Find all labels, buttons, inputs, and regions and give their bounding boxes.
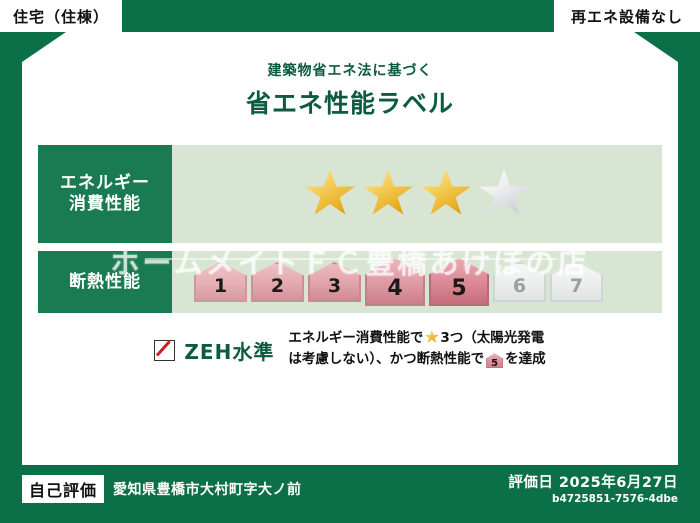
label-footer: 自己評価 愛知県豊橋市大村町字大ノ前 評価日 2025年6月27日 b47258… <box>0 465 700 523</box>
grade-chip-7-value: 7 <box>570 277 583 300</box>
star-rating <box>172 145 662 243</box>
grade-chip-7: 7 <box>550 262 603 302</box>
insulation-label-text: 断熱性能 <box>69 272 141 293</box>
grade-chip-5-achieved: 5 <box>429 258 489 306</box>
title-block: 建築物省エネ法に基づく 省エネ性能ラベル <box>22 60 678 120</box>
self-evaluation-badge: 自己評価 <box>22 475 104 503</box>
zeh-standard-block: ZEH水準 エネルギー消費性能で3つ（太陽光発電 は考慮しない）、かつ断熱性能で… <box>22 328 678 371</box>
insulation-grade-scale: 1 2 3 4 5 6 7 <box>172 251 662 313</box>
evaluation-date: 評価日 2025年6月27日 <box>508 471 678 492</box>
zeh-standard-marker: ZEH水準 <box>154 328 274 365</box>
grade-chip-2: 2 <box>251 262 304 302</box>
star-filled-2 <box>362 169 414 219</box>
renewable-energy-tab: 再エネ設備なし <box>554 0 700 32</box>
insulation-row-label: 断熱性能 <box>38 251 172 313</box>
zeh-desc-part-2: は考慮しない）、かつ断熱性能で <box>288 351 484 367</box>
renewable-energy-tab-label: 再エネ設備なし <box>571 6 683 27</box>
zeh-standard-description: エネルギー消費性能で3つ（太陽光発電 は考慮しない）、かつ断熱性能で5を達成 <box>288 328 545 371</box>
energy-consumption-row: エネルギー 消費性能 <box>38 145 662 243</box>
zeh-desc-star-count: 3つ（太陽光発電 <box>440 330 544 346</box>
grade-chip-1: 1 <box>194 262 247 302</box>
building-type-tab-label: 住宅（住棟） <box>13 6 109 27</box>
label-subtitle: 建築物省エネ法に基づく <box>22 60 678 80</box>
grade-chip-5-value: 5 <box>451 278 466 304</box>
star-icon-inline <box>424 330 439 344</box>
grade-chip-3-value: 3 <box>328 277 341 300</box>
grade-chip-6: 6 <box>493 262 546 302</box>
checkmark-icon <box>154 340 175 361</box>
grade-chip-6-value: 6 <box>513 277 526 300</box>
star-filled-1 <box>304 169 356 219</box>
footer-left-group: 自己評価 愛知県豊橋市大村町字大ノ前 <box>22 475 302 503</box>
zeh-desc-part-1: エネルギー消費性能で <box>288 330 423 346</box>
grade-chip-4-value: 4 <box>387 278 402 304</box>
page-title: 省エネ性能ラベル <box>22 84 678 120</box>
insulation-performance-row: 断熱性能 1 2 3 4 5 6 <box>38 251 662 313</box>
grade-chip-1-value: 1 <box>214 277 227 300</box>
evaluation-id: b4725851-7576-4dbe <box>508 493 678 505</box>
star-empty-4 <box>478 169 530 219</box>
property-address: 愛知県豊橋市大村町字大ノ前 <box>113 479 302 499</box>
zeh-desc-part-3: を達成 <box>505 351 546 367</box>
energy-label-line-1: エネルギー <box>60 173 150 194</box>
building-type-tab: 住宅（住棟） <box>0 0 122 32</box>
energy-label-line-2: 消費性能 <box>69 194 141 215</box>
star-filled-3 <box>420 169 472 219</box>
grade-chip-4: 4 <box>365 258 425 306</box>
grade-chip-icon-inline: 5 <box>486 353 503 368</box>
zeh-standard-label: ZEH水準 <box>184 336 274 365</box>
energy-performance-label: 住宅（住棟） 再エネ設備なし 建築物省エネ法に基づく 省エネ性能ラベル エネルギ… <box>0 0 700 523</box>
energy-consumption-row-label: エネルギー 消費性能 <box>38 145 172 243</box>
grade-chip-3: 3 <box>308 262 361 302</box>
footer-right-group: 評価日 2025年6月27日 b4725851-7576-4dbe <box>508 471 678 505</box>
grade-chip-2-value: 2 <box>271 277 284 300</box>
label-card: 建築物省エネ法に基づく 省エネ性能ラベル エネルギー 消費性能 断熱性能 <box>22 32 678 465</box>
